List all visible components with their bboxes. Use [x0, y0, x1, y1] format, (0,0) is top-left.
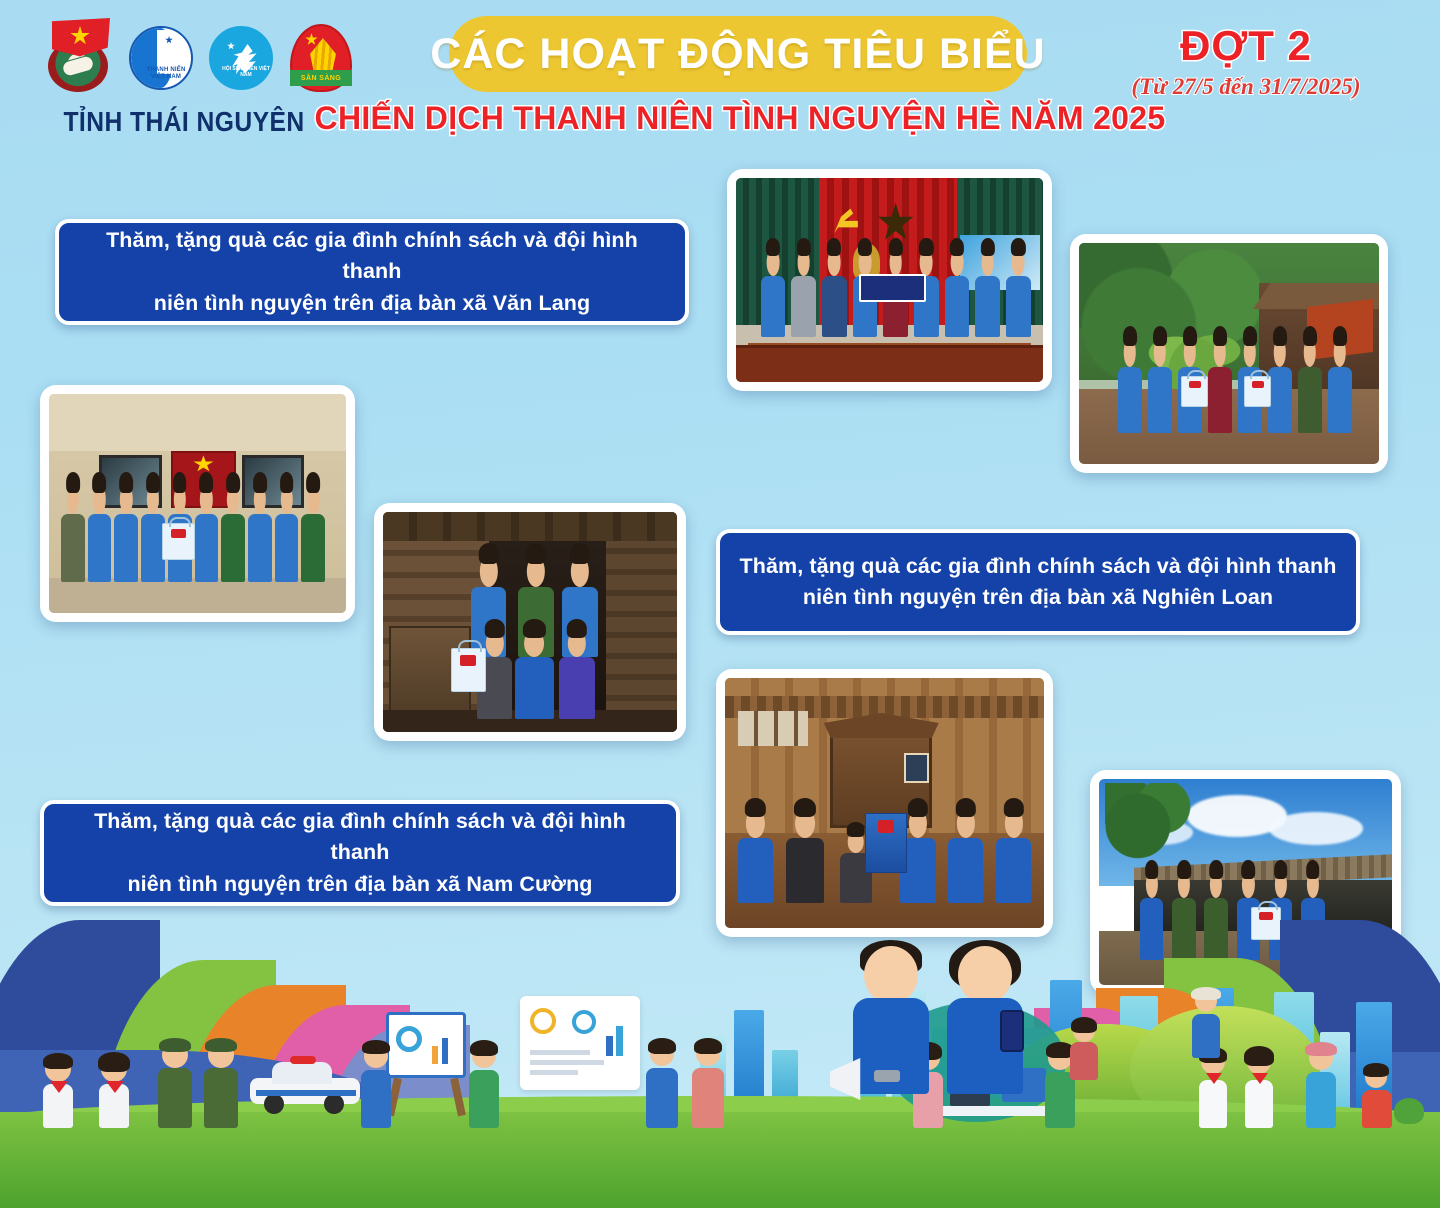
photo-card-office-group	[40, 385, 355, 622]
phase-date-range: (Từ 27/5 đến 31/7/2025)	[1096, 74, 1396, 100]
person-figure	[791, 276, 816, 337]
infographic-card	[520, 996, 640, 1090]
province-name: TỈNH THÁI NGUYÊN	[61, 106, 307, 138]
doi-logo-caption: SẴN SÀNG	[301, 75, 341, 82]
body	[1362, 1090, 1392, 1128]
doi-logo-band: SẴN SÀNG	[290, 70, 352, 86]
hair	[98, 1052, 130, 1072]
volunteer-figure	[464, 1042, 504, 1128]
cloud	[1269, 812, 1363, 845]
person-figure	[1118, 367, 1142, 433]
body	[1192, 1014, 1220, 1058]
body	[692, 1068, 724, 1128]
gift-bag	[1244, 376, 1271, 407]
doi-logo-star-icon	[305, 33, 318, 46]
person-figure	[88, 514, 112, 582]
person-figure	[1006, 276, 1031, 337]
caption-line-2: niên tình nguyện trên địa bàn xã Nghiên …	[803, 585, 1273, 609]
gift-bag	[451, 648, 486, 692]
caption-text: Thăm, tặng quà các gia đình chính sách v…	[77, 225, 667, 319]
hair	[648, 1038, 676, 1054]
office-worker-figure	[686, 1040, 730, 1128]
gift-banner	[859, 274, 927, 303]
person-figure	[114, 514, 138, 582]
body	[361, 1070, 391, 1128]
sapling	[1394, 1098, 1424, 1124]
bar	[606, 1036, 613, 1056]
wheel	[264, 1094, 284, 1114]
caption-line-1: Thăm, tặng quà các gia đình chính sách v…	[94, 809, 626, 864]
student-figure	[1192, 1050, 1234, 1128]
hair	[1244, 1046, 1274, 1066]
person-figure	[996, 838, 1031, 903]
cap-icon	[159, 1038, 191, 1052]
hoi-logo-disc: THANH NIÊN VIỆT NAM	[129, 26, 193, 90]
student-figure	[92, 1056, 138, 1128]
poster-root: THANH NIÊN VIỆT NAM HỘI SINH VIÊN VIỆT N…	[0, 0, 1440, 1208]
head	[958, 946, 1012, 1004]
caption-box-nam-cuong: Thăm, tặng quà các gia đình chính sách v…	[40, 800, 680, 906]
caption-box-van-lang: Thăm, tặng quà các gia đình chính sách v…	[55, 219, 689, 325]
portrait-photo	[904, 753, 930, 783]
photo-image-office-building	[49, 394, 346, 613]
hair	[470, 1040, 498, 1056]
hoi-logo-caption: THANH NIÊN VIỆT NAM	[139, 67, 193, 81]
uniform-body	[204, 1068, 238, 1128]
certificate-frames	[738, 711, 808, 746]
car-stripe	[256, 1090, 356, 1096]
student-figure	[1238, 1050, 1280, 1128]
person-figure	[195, 514, 219, 582]
caption-text: Thăm, tặng quà các gia đình chính sách v…	[62, 806, 658, 900]
uniform-body	[158, 1068, 192, 1128]
tree-planting-figure	[1300, 1044, 1344, 1128]
text-line	[530, 1050, 590, 1055]
person-figure	[1268, 367, 1292, 433]
hat-icon	[1191, 987, 1221, 1000]
poster-subtitle: CHIẾN DỊCH THANH NIÊN TÌNH NGUYỆN HÈ NĂM…	[300, 100, 1180, 137]
photo-image-rural-house	[1079, 243, 1379, 464]
ceiling-beam	[383, 512, 677, 541]
photo-card-van-lang-ceremony	[727, 169, 1052, 391]
photo-card-rural-house-gift	[1070, 234, 1388, 473]
person-figure	[559, 657, 594, 719]
hair	[694, 1038, 722, 1054]
person-figure	[945, 276, 970, 337]
sinhvien-logo-star-icon	[227, 42, 235, 50]
poster-header: THANH NIÊN VIỆT NAM HỘI SINH VIÊN VIỆT N…	[0, 0, 1440, 160]
sinhvien-logo-disc: HỘI SINH VIÊN VIỆT NAM	[209, 26, 273, 90]
hillside-figure	[1064, 1020, 1104, 1080]
photo-card-traditional-house-visit	[716, 669, 1053, 937]
caption-line-2: niên tình nguyện trên địa bàn xã Văn Lan…	[154, 291, 591, 315]
police-officer-figure	[196, 1038, 246, 1128]
cap-icon	[205, 1038, 237, 1052]
person-figure	[1208, 367, 1232, 433]
photo-image-wooden-interior	[383, 512, 677, 732]
body	[1245, 1080, 1273, 1128]
hall-table-front	[736, 345, 1043, 382]
head	[864, 946, 918, 1004]
hair	[362, 1040, 390, 1054]
person-figure	[761, 276, 786, 337]
person-figure	[822, 276, 847, 337]
megaphone-handle	[874, 1070, 900, 1082]
person-figure	[786, 838, 824, 903]
smartphone-icon	[1000, 1010, 1024, 1052]
person-figure	[948, 838, 983, 903]
bar	[442, 1038, 448, 1064]
pie-chart-icon	[396, 1026, 422, 1052]
building-floor	[49, 578, 346, 613]
hat-icon	[1305, 1042, 1337, 1056]
person-figure	[515, 657, 553, 719]
person-figure	[1328, 367, 1352, 433]
wooden-wall-right	[606, 512, 677, 732]
text-line	[530, 1060, 604, 1065]
gift-bag	[1181, 376, 1208, 407]
photo-image-hall-ceremony	[736, 178, 1043, 382]
caption-line-1: Thăm, tặng quà các gia đình chính sách v…	[106, 228, 638, 283]
window-right	[242, 455, 304, 508]
caption-text: Thăm, tặng quà các gia đình chính sách v…	[740, 551, 1337, 613]
bar	[616, 1026, 623, 1056]
person-figure	[975, 276, 1000, 337]
office-worker-figure	[640, 1040, 684, 1128]
caption-line-2: niên tình nguyện trên địa bàn xã Nam Cườ…	[127, 872, 592, 896]
text-line	[530, 1070, 578, 1075]
person-figure	[221, 514, 245, 582]
footer-illustration	[0, 918, 1440, 1208]
sinhvien-logo-caption: HỘI SINH VIÊN VIỆT NAM	[217, 66, 275, 78]
body	[1306, 1072, 1336, 1128]
body	[1070, 1042, 1098, 1080]
siren-light	[290, 1056, 316, 1064]
person-figure	[738, 838, 773, 903]
poster-title: CÁC HOẠT ĐỘNG TIÊU BIỂU	[430, 30, 1045, 79]
hair	[1071, 1017, 1097, 1033]
bar	[432, 1046, 438, 1064]
doan-tncs-ho-chi-minh-logo	[44, 18, 116, 94]
logo-row: THANH NIÊN VIỆT NAM HỘI SINH VIÊN VIỆT N…	[44, 18, 356, 94]
phase-title: ĐỢT 2	[1096, 22, 1396, 70]
hair	[43, 1053, 73, 1069]
volunteer-figure	[356, 1042, 396, 1128]
hoi-sinh-vien-viet-nam-logo: HỘI SINH VIÊN VIỆT NAM	[206, 18, 276, 94]
caption-box-nghien-loan: Thăm, tặng quà các gia đình chính sách v…	[716, 529, 1360, 635]
person-figure	[1298, 367, 1322, 433]
car-cabin	[272, 1062, 332, 1084]
body	[469, 1070, 499, 1128]
tree-planting-figure	[1356, 1066, 1400, 1128]
photo-image-traditional-house	[725, 678, 1044, 928]
body	[646, 1068, 678, 1128]
caption-line-1: Thăm, tặng quà các gia đình chính sách v…	[740, 554, 1337, 578]
gift-box	[865, 813, 906, 873]
person-figure	[1148, 367, 1172, 433]
photo-card-wooden-house-visit	[374, 503, 686, 741]
hoi-lhtn-viet-nam-logo: THANH NIÊN VIỆT NAM	[126, 18, 196, 94]
patrol-car	[250, 1064, 360, 1114]
building-upper-wall	[49, 394, 346, 451]
person-figure	[61, 514, 85, 582]
female-mascot-with-phone	[920, 946, 1050, 1136]
donut-chart-icon	[572, 1010, 596, 1034]
title-pill: CÁC HOẠT ĐỘNG TIÊU BIỂU	[449, 16, 1027, 92]
body	[1199, 1080, 1227, 1128]
person-figure	[248, 514, 272, 582]
gift-bag	[162, 523, 195, 560]
doi-tntp-ho-chi-minh-logo: SẴN SÀNG	[286, 18, 356, 94]
hair	[1363, 1063, 1389, 1077]
wheel	[324, 1094, 344, 1114]
lightbulb-icon	[530, 1008, 556, 1034]
person-figure	[301, 514, 325, 582]
student-figure	[36, 1056, 82, 1128]
person-figure	[275, 514, 299, 582]
phase-block: ĐỢT 2 (Từ 27/5 đến 31/7/2025)	[1096, 22, 1396, 100]
police-officer-figure	[150, 1038, 200, 1128]
hillside-figure	[1186, 990, 1226, 1058]
